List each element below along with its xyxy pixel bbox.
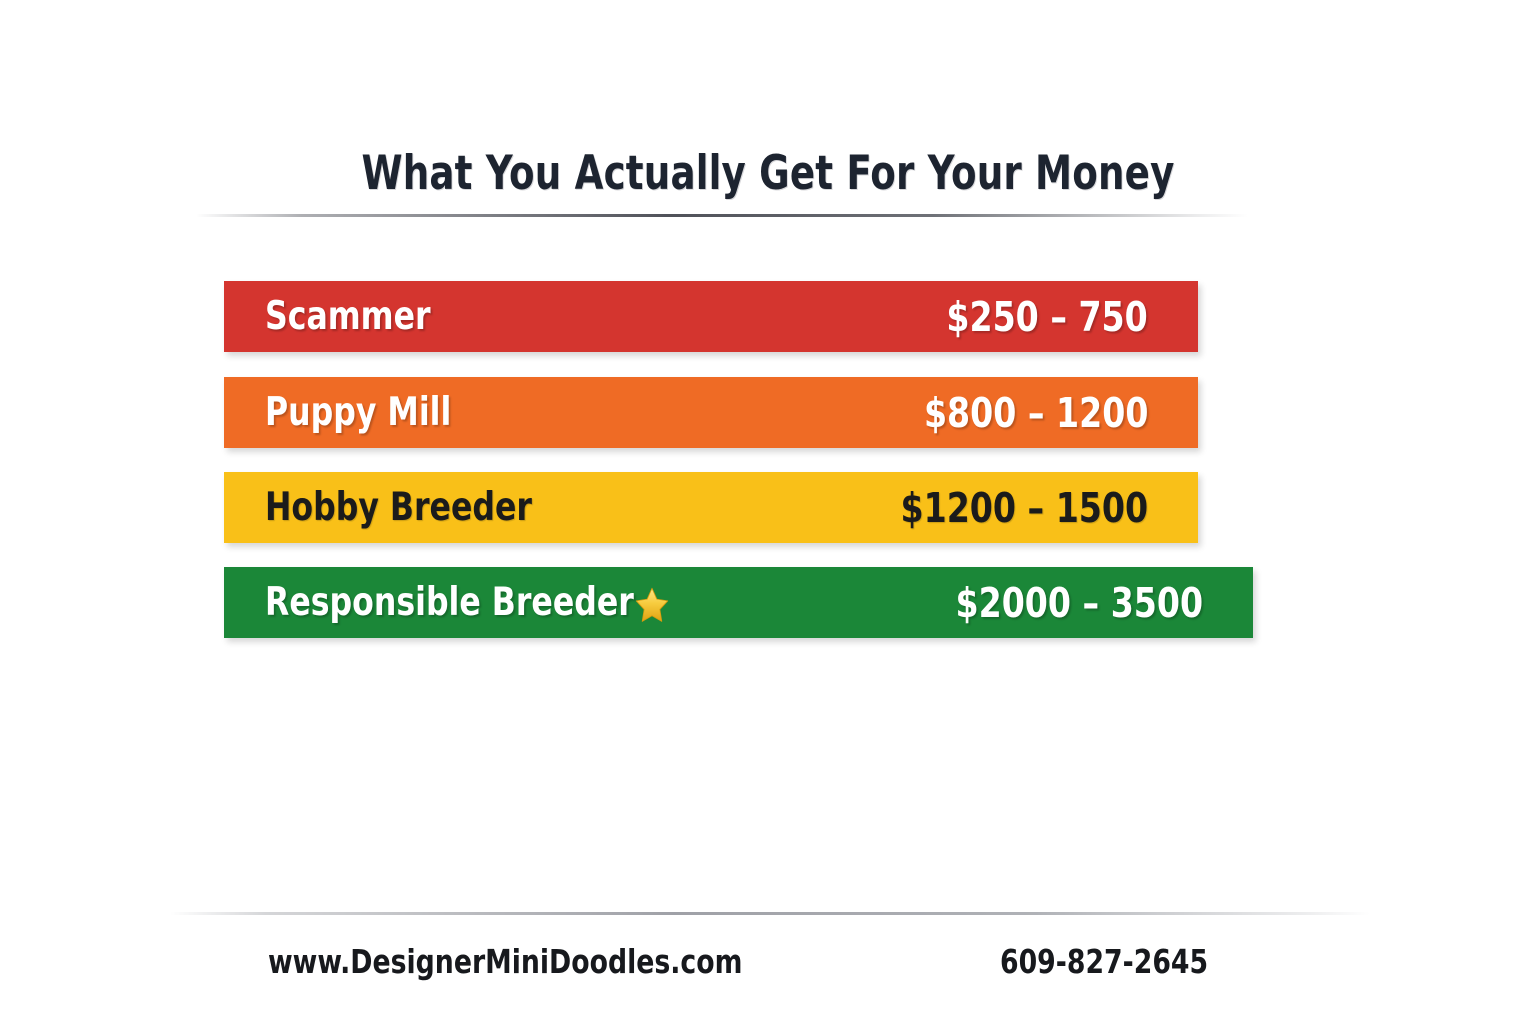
- price-bar: Responsible Breeder$2000 – 3500: [224, 567, 1253, 638]
- title-divider: [196, 214, 1248, 217]
- footer-phone[interactable]: 609-827-2645: [1000, 942, 1208, 981]
- bar-label-text: Scammer: [265, 294, 431, 339]
- bar-label: Scammer: [265, 294, 431, 339]
- bar-price-value: $1200 – 1500: [900, 484, 1148, 532]
- footer-divider: [170, 912, 1370, 915]
- infographic-canvas: What You Actually Get For Your Money Sca…: [0, 0, 1536, 1024]
- bar-label: Hobby Breeder: [265, 485, 532, 530]
- price-bar: Puppy Mill$800 – 1200: [224, 377, 1198, 448]
- bar-label-text: Puppy Mill: [265, 390, 451, 435]
- bar-label-text: Hobby Breeder: [265, 485, 532, 530]
- price-bar: Scammer$250 – 750: [224, 281, 1198, 352]
- bar-price-value: $250 – 750: [947, 293, 1148, 341]
- price-bar: Hobby Breeder$1200 – 1500: [224, 472, 1198, 543]
- bar-price-value: $800 – 1200: [924, 389, 1148, 437]
- bar-price-value: $2000 – 3500: [955, 579, 1203, 627]
- bar-label-text: Responsible Breeder: [265, 580, 634, 625]
- footer-website[interactable]: www.DesignerMiniDoodles.com: [268, 942, 742, 981]
- bar-label: Puppy Mill: [265, 390, 451, 435]
- bar-label: Responsible Breeder: [265, 580, 670, 625]
- page-title: What You Actually Get For Your Money: [92, 146, 1444, 201]
- star-icon: [634, 585, 670, 625]
